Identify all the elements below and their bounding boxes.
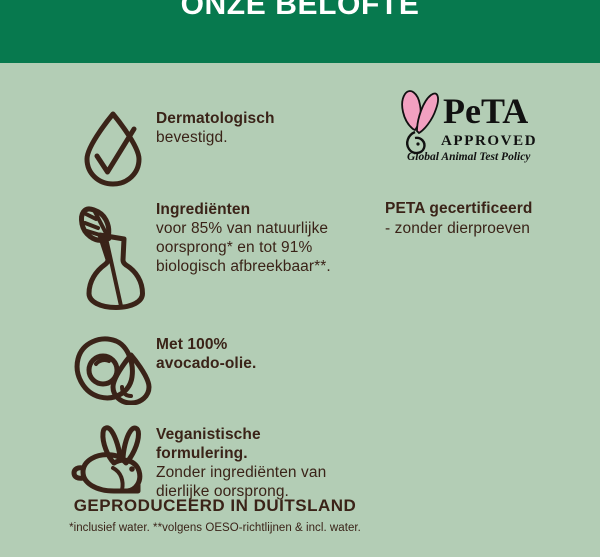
body-area: Dermatologisch bevestigd. (0, 63, 600, 557)
feature-title: Dermatologisch (156, 109, 275, 128)
page-title: ONZE BELOFTE (0, 0, 600, 27)
promise-infographic: ONZE BELOFTE Dermatologisch bevestigd. (0, 0, 600, 557)
feature-veganistisch: Veganistische formulering. Zonder ingred… (70, 423, 326, 503)
feature-title-line2: formulering. (156, 444, 326, 463)
feature-line: oorsprong* en tot 91% (156, 238, 331, 257)
feature-text: Ingrediënten voor 85% van natuurlijke oo… (156, 198, 331, 276)
footer: GEPRODUCEERD IN DUITSLAND *inclusief wat… (0, 495, 430, 536)
footer-note: *inclusief water. **volgens OESO-richtli… (0, 520, 430, 536)
feature-line: Zonder ingrediënten van (156, 463, 326, 482)
feature-ingredienten: Ingrediënten voor 85% van natuurlijke oo… (70, 198, 331, 310)
feature-title: Met 100% (156, 335, 256, 354)
flask-leaf-icon (70, 198, 156, 310)
peta-caption: PETA gecertificeerd - zonder dierproeven (385, 199, 568, 239)
peta-caption-sub: - zonder dierproeven (385, 219, 568, 239)
feature-title-line2: avocado-olie. (156, 354, 256, 373)
peta-caption-title: PETA gecertificeerd (385, 199, 568, 219)
feature-text: Veganistische formulering. Zonder ingred… (156, 423, 326, 501)
peta-approved-label: APPROVED (441, 133, 537, 149)
header-banner: ONZE BELOFTE (0, 0, 600, 63)
peta-approved-logo: PeTA APPROVED Global Animal Test Policy (391, 85, 541, 163)
feature-line: voor 85% van natuurlijke (156, 219, 331, 238)
droplet-check-icon (70, 107, 156, 187)
feature-dermatologisch: Dermatologisch bevestigd. (70, 107, 275, 187)
feature-text: Met 100% avocado-olie. (156, 333, 256, 373)
rabbit-icon (70, 423, 156, 503)
peta-wordmark: PeTA (443, 91, 528, 131)
avocado-oil-icon (70, 333, 156, 405)
feature-line: bevestigd. (156, 128, 275, 147)
peta-bunny-icon (402, 91, 438, 153)
peta-tagline: Global Animal Test Policy (407, 151, 531, 163)
feature-text: Dermatologisch bevestigd. (156, 107, 275, 147)
feature-title: Ingrediënten (156, 200, 331, 219)
peta-column: PeTA APPROVED Global Animal Test Policy … (383, 85, 568, 239)
feature-title: Veganistische (156, 425, 326, 444)
feature-avocado: Met 100% avocado-olie. (70, 333, 256, 405)
footer-title: GEPRODUCEERD IN DUITSLAND (0, 495, 430, 517)
feature-line: biologisch afbreekbaar**. (156, 257, 331, 276)
